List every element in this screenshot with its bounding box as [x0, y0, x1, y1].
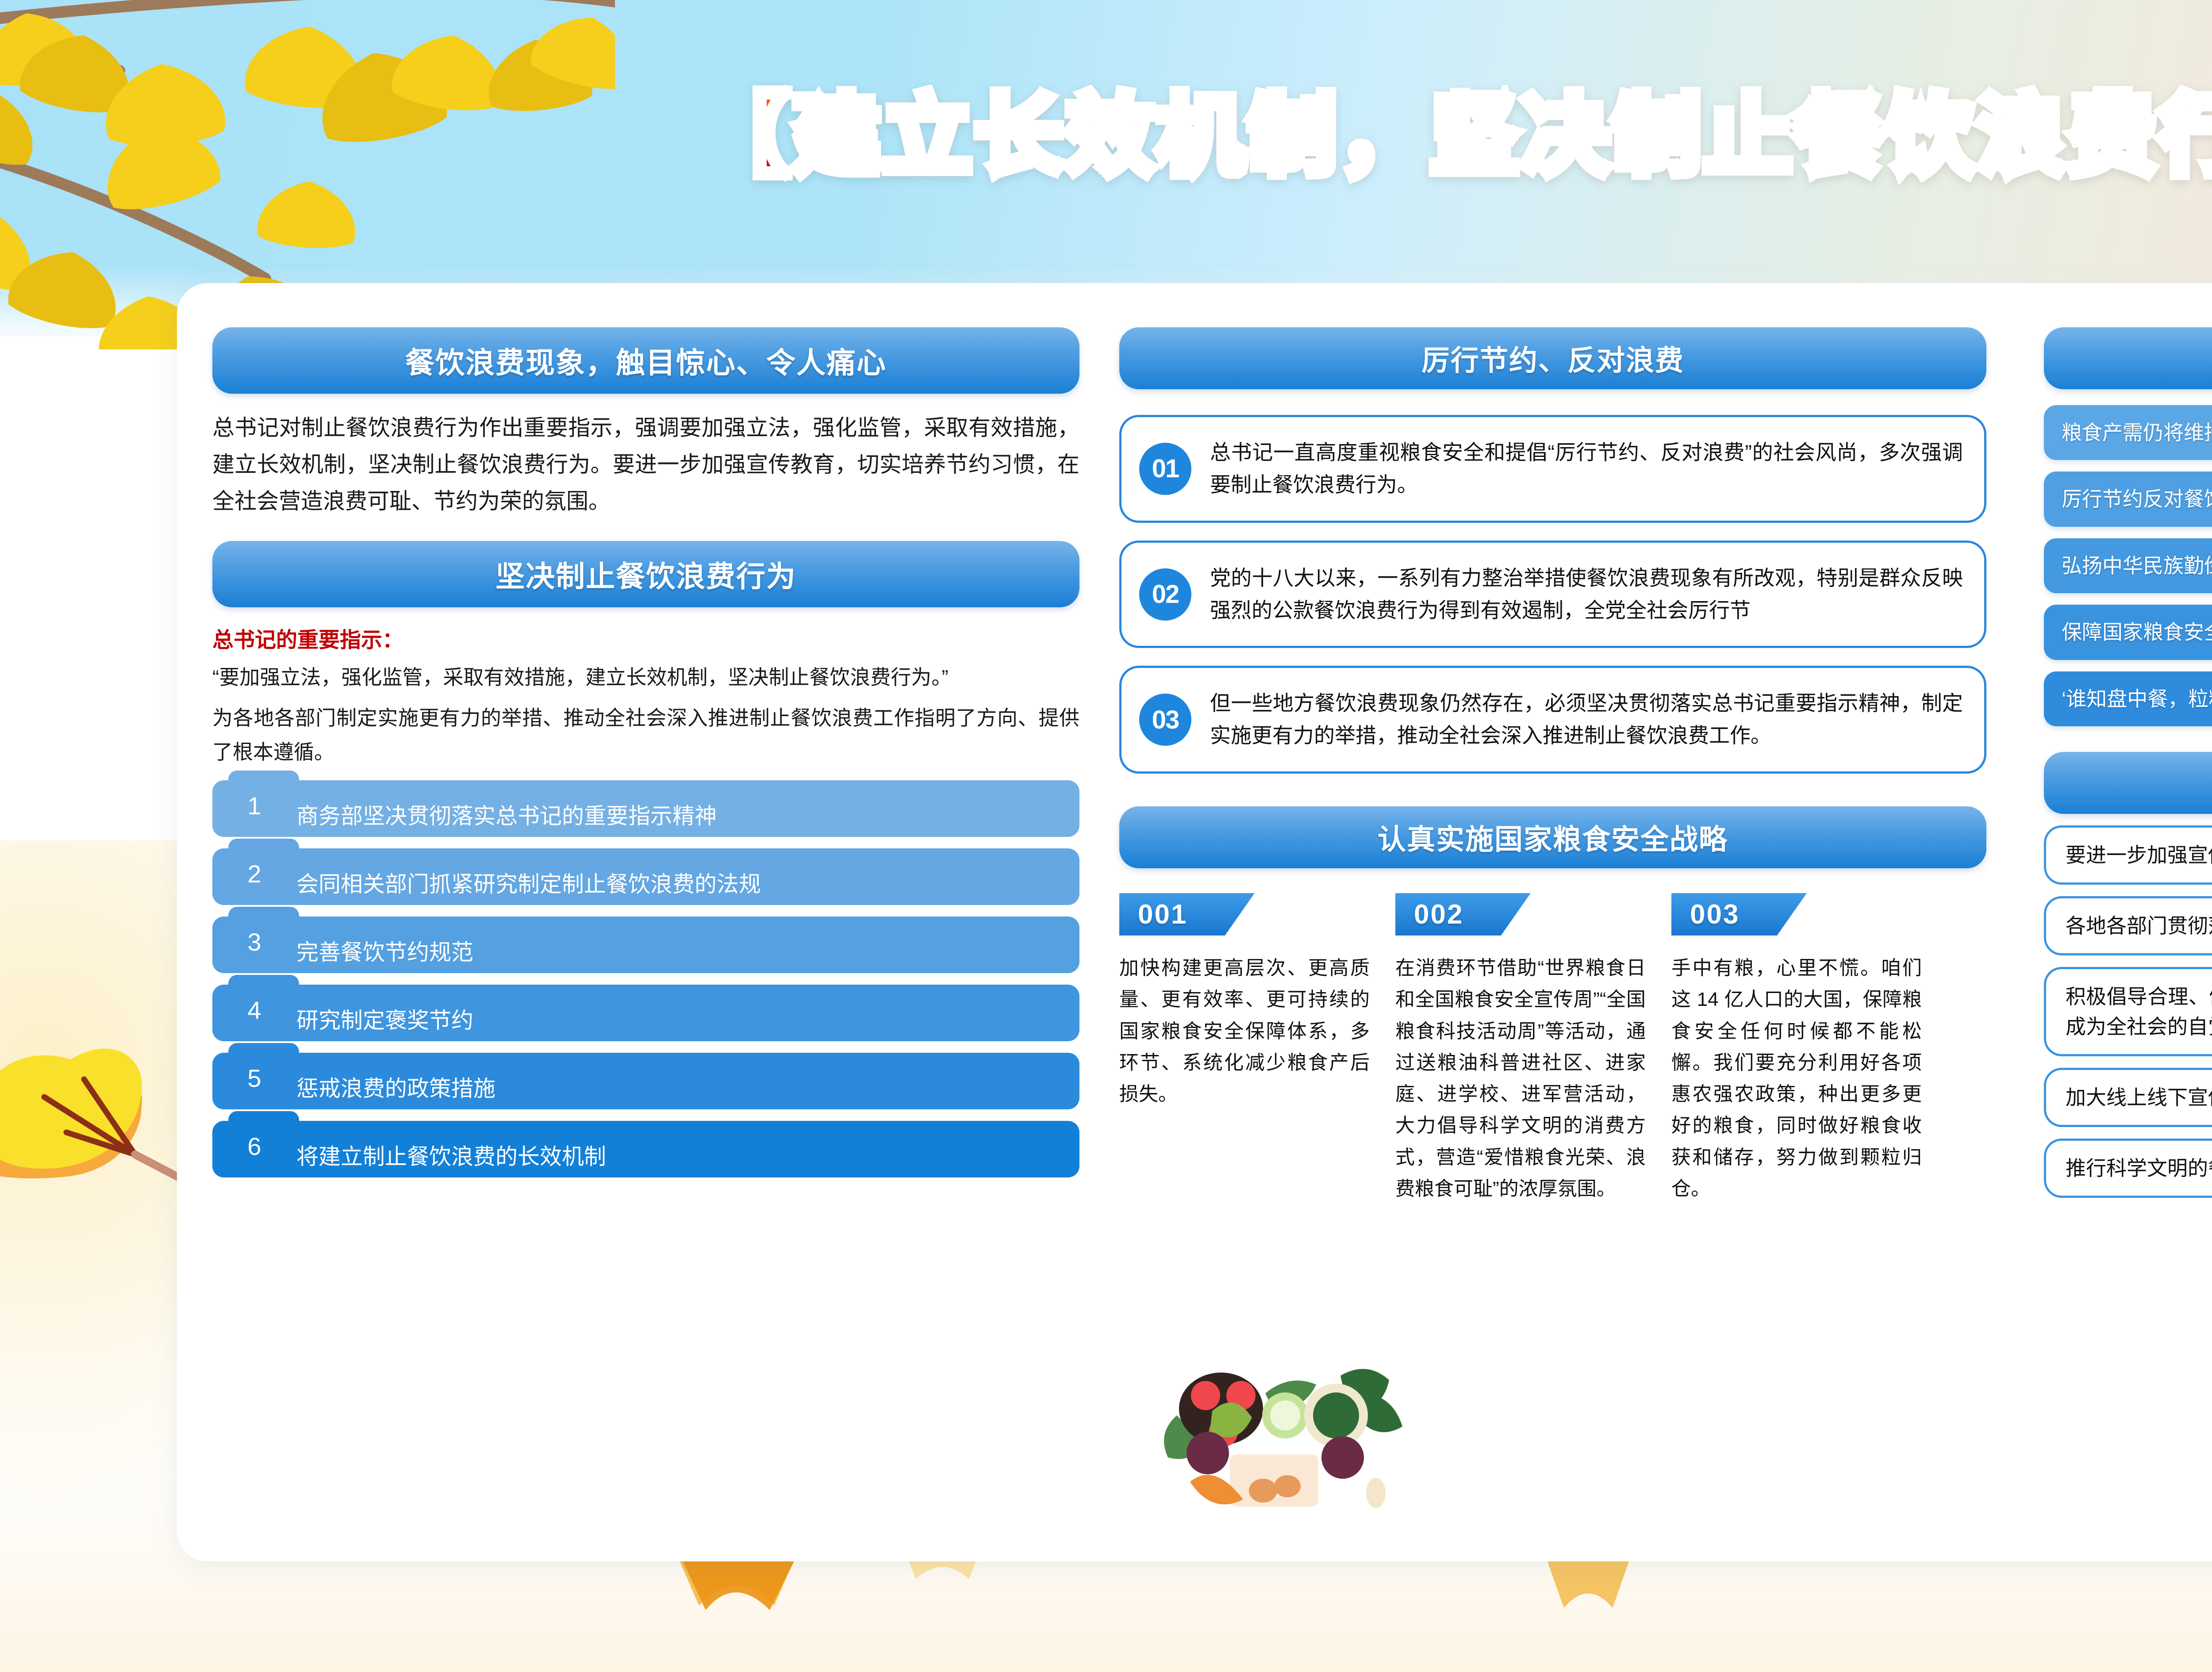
- list-item-label: 手中有粮，心里不慌。咱们这 14 亿人口的大国，保障粮食安全任何时候都不能松懈。…: [1671, 952, 1922, 1204]
- list-item[interactable]: 各地各部门贯彻落实总书记重要指示精神，加大宣传教育力度: [2044, 896, 2212, 955]
- left-followup: 为各地各部门制定实施更有力的举措、推动全社会深入推进制止餐饮浪费工作指明了方向、…: [212, 701, 1079, 769]
- list-item[interactable]: 3完善餐饮节约规范: [212, 917, 1079, 973]
- list-item-number: 3: [212, 928, 296, 963]
- list-item[interactable]: ‘谁知盘中餐，粒粒皆辛苦。’一粥一饭，当思来之不易。: [2044, 671, 2212, 726]
- status-badge: 003: [1671, 893, 1807, 936]
- list-item-label: 完善餐饮节约规范: [296, 923, 473, 966]
- list-item-number: 2: [212, 859, 296, 894]
- tri-column-group: 001加快构建更高层次、更高质量、更有效率、更可持续的国家粮食安全保障体系，多环…: [1119, 893, 1986, 1204]
- left-header-1: 餐饮浪费现象，触目惊心、令人痛心: [212, 327, 1079, 394]
- list-item-number: 1: [212, 791, 296, 826]
- list-item-label: 惩戒浪费的政策措施: [296, 1059, 495, 1103]
- list-item[interactable]: 02党的十八大以来，一系列有力整治举措使餐饮浪费现象有所改观，特别是群众反映强烈…: [1119, 541, 1986, 648]
- list-item[interactable]: 1商务部坚决贯彻落实总书记的重要指示精神: [212, 780, 1079, 837]
- middle-column: 厉行节约、反对浪费 01总书记一直高度重视粮食安全和提倡“厉行节约、反对浪费”的…: [1119, 327, 1986, 1204]
- list-item[interactable]: 弘扬中华民族勤俭节约传统美德的重要举措: [2044, 538, 2212, 593]
- list-item-label: 加快构建更高层次、更高质量、更有效率、更可持续的国家粮食安全保障体系，多环节、系…: [1119, 952, 1370, 1110]
- right-header-1: 对粮食安全始终要有危机意识: [2044, 327, 2212, 389]
- status-badge: 01: [1139, 443, 1191, 495]
- left-red-label: 总书记的重要指示：: [212, 622, 1079, 653]
- status-badge: 001: [1119, 893, 1255, 936]
- list-item-number: 5: [212, 1064, 296, 1099]
- list-item[interactable]: 加大线上线下宣传力度，引导广大市民群众从自我做起，节俭用餐、文明用餐。: [2044, 1068, 2212, 1127]
- right-header-2: 营造浪费可耻、节约为荣的氛围: [2044, 752, 2212, 814]
- list-item[interactable]: 推行科学文明的餐饮消费模式，需要充分发挥好餐饮企业的作用。: [2044, 1139, 2212, 1198]
- left-header-2: 坚决制止餐饮浪费行为: [212, 541, 1079, 607]
- right-outline-box-list: 要进一步加强宣传教育，切实培养节约习惯，在全社会营造浪费可耻、节约为荣的氛围。各…: [2044, 825, 2212, 1198]
- list-item-label: 会同相关部门抓紧研究制定制止餐饮浪费的法规: [296, 855, 761, 898]
- list-item[interactable]: 2会同相关部门抓紧研究制定制止餐饮浪费的法规: [212, 848, 1079, 905]
- mid-header-2: 认真实施国家粮食安全战略: [1119, 806, 1986, 868]
- list-item-label: 研究制定褒奖节约: [296, 991, 473, 1035]
- list-item-label: 党的十八大以来，一系列有力整治举措使餐饮浪费现象有所改观，特别是群众反映强烈的公…: [1210, 562, 1963, 627]
- vegetable-flatlay-illustration: [1146, 1336, 1411, 1513]
- status-badge: 002: [1395, 893, 1531, 936]
- left-column: 餐饮浪费现象，触目惊心、令人痛心 总书记对制止餐饮浪费行为作出重要指示，强调要加…: [212, 327, 1079, 1177]
- list-item-number: 6: [212, 1132, 296, 1167]
- list-item[interactable]: 01总书记一直高度重视粮食安全和提倡“厉行节约、反对浪费”的社会风尚，多次强调要…: [1119, 415, 1986, 523]
- page-title: 【建立长效机制，坚决制止餐饮浪费行为】: [0, 93, 2212, 180]
- left-numbered-list: 1商务部坚决贯彻落实总书记的重要指示精神2会同相关部门抓紧研究制定制止餐饮浪费的…: [212, 780, 1079, 1177]
- list-item: 001加快构建更高层次、更高质量、更有效率、更可持续的国家粮食安全保障体系，多环…: [1119, 893, 1370, 1204]
- list-item[interactable]: 厉行节约反对餐饮浪费: [2044, 472, 2212, 526]
- list-item[interactable]: 保障国家粮食安全的迫切需要: [2044, 605, 2212, 660]
- list-item[interactable]: 5惩戒浪费的政策措施: [212, 1053, 1079, 1109]
- list-item[interactable]: 粮食产需仍将维持紧平衡态势，确保国家粮食安全一刻也不能放松。: [2044, 405, 2212, 460]
- list-item-label: 但一些地方餐饮浪费现象仍然存在，必须坚决贯彻落实总书记重要指示精神，制定实施更有…: [1210, 687, 1963, 752]
- list-item: 002在消费环节借助“世界粮食日和全国粮食安全宣传周”“全国粮食科技活动周”等活…: [1395, 893, 1646, 1204]
- list-item[interactable]: 4研究制定褒奖节约: [212, 985, 1079, 1041]
- list-item: 003手中有粮，心里不慌。咱们这 14 亿人口的大国，保障粮食安全任何时候都不能…: [1671, 893, 1922, 1204]
- status-badge: 02: [1139, 568, 1191, 621]
- list-item[interactable]: 要进一步加强宣传教育，切实培养节约习惯，在全社会营造浪费可耻、节约为荣的氛围。: [2044, 825, 2212, 885]
- left-quote: “要加强立法，强化监管，采取有效措施，建立长效机制，坚决制止餐饮浪费行为。”: [212, 660, 1079, 694]
- list-item[interactable]: 03但一些地方餐饮浪费现象仍然存在，必须坚决贯彻落实总书记重要指示精神，制定实施…: [1119, 666, 1986, 774]
- right-blue-bar-list: 粮食产需仍将维持紧平衡态势，确保国家粮食安全一刻也不能放松。厉行节约反对餐饮浪费…: [2044, 405, 2212, 726]
- status-badge: 03: [1139, 694, 1191, 746]
- left-paragraph-1: 总书记对制止餐饮浪费行为作出重要指示，强调要加强立法，强化监管，采取有效措施，建…: [212, 410, 1079, 520]
- list-item[interactable]: 积极倡导合理、健康的饮食文化，大力破除讲排场、比阔气等不良风气，促进反对餐饮浪费…: [2044, 967, 2212, 1056]
- right-column: 对粮食安全始终要有危机意识 粮食产需仍将维持紧平衡态势，确保国家粮食安全一刻也不…: [2044, 327, 2212, 1198]
- list-item-label: 总书记一直高度重视粮食安全和提倡“厉行节约、反对浪费”的社会风尚，多次强调要制止…: [1210, 437, 1963, 501]
- list-item-label: 在消费环节借助“世界粮食日和全国粮食安全宣传周”“全国粮食科技活动周”等活动，通…: [1395, 952, 1646, 1204]
- list-item-label: 商务部坚决贯彻落实总书记的重要指示精神: [296, 787, 717, 830]
- list-item-label: 将建立制止餐饮浪费的长效机制: [296, 1127, 606, 1171]
- list-item[interactable]: 6将建立制止餐饮浪费的长效机制: [212, 1121, 1079, 1177]
- mid-header-1: 厉行节约、反对浪费: [1119, 327, 1986, 389]
- list-item-number: 4: [212, 996, 296, 1031]
- mid-numbered-cards: 01总书记一直高度重视粮食安全和提倡“厉行节约、反对浪费”的社会风尚，多次强调要…: [1119, 415, 1986, 774]
